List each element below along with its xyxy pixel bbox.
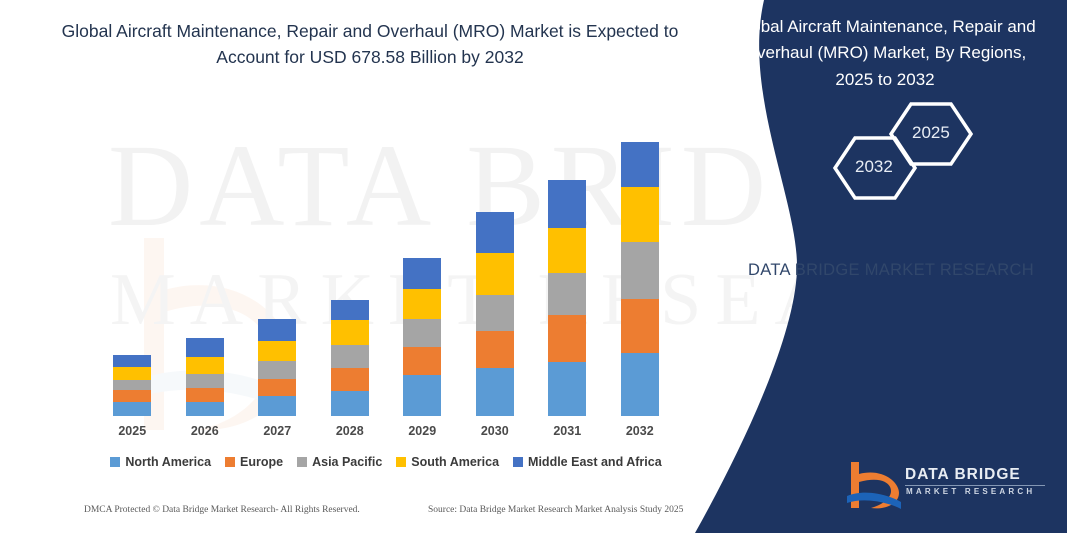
legend-swatch-icon: [225, 457, 235, 467]
bar-segment: [186, 374, 224, 389]
bar-segment: [258, 396, 296, 416]
x-axis-tick: 2027: [242, 424, 312, 438]
bar-segment: [113, 402, 151, 416]
bar-segment: [476, 212, 514, 253]
bar-segment: [548, 273, 586, 315]
bar-segment: [331, 320, 369, 345]
legend-label: Asia Pacific: [312, 455, 382, 469]
bar-column: [403, 258, 441, 416]
infographic-page: DATA BRID MARKET RESEARCH Global Aircraf…: [0, 0, 1067, 533]
bar-segment: [258, 361, 296, 379]
bar-column: [186, 338, 224, 416]
legend-item[interactable]: South America: [396, 455, 499, 469]
brand-name: DATA BRIDGE: [905, 466, 1021, 484]
page-title: Global Aircraft Maintenance, Repair and …: [60, 18, 680, 71]
hexagon-outlines-icon: [823, 96, 1023, 206]
legend-swatch-icon: [513, 457, 523, 467]
bar-segment: [403, 347, 441, 375]
bar-segment: [186, 338, 224, 357]
legend-item[interactable]: North America: [110, 455, 211, 469]
x-axis-tick: 2026: [170, 424, 240, 438]
brand-divider: [905, 485, 1045, 486]
bar-segment: [403, 289, 441, 320]
footer-copyright: DMCA Protected © Data Bridge Market Rese…: [84, 505, 360, 515]
bar-segment: [113, 390, 151, 402]
stacked-bar-chart: [96, 110, 676, 416]
legend-item[interactable]: Middle East and Africa: [513, 455, 662, 469]
legend-label: Europe: [240, 455, 283, 469]
bar-segment: [548, 180, 586, 228]
bar-segment: [331, 300, 369, 321]
bar-segment: [403, 319, 441, 347]
hexagon-group: 2025 2032: [823, 96, 1023, 206]
chart-legend: North AmericaEuropeAsia PacificSouth Ame…: [96, 455, 676, 469]
bar-column: [476, 212, 514, 416]
hexagon-2032-label: 2032: [855, 157, 893, 177]
bar-segment: [331, 345, 369, 368]
bar-segment: [113, 380, 151, 391]
bar-column: [331, 300, 369, 416]
bar-segment: [186, 402, 224, 416]
legend-label: North America: [125, 455, 211, 469]
legend-swatch-icon: [110, 457, 120, 467]
brand-logo: DATA BRIDGE MARKET RESEARCH: [843, 458, 1053, 514]
bar-segment: [186, 388, 224, 402]
footer: DMCA Protected © Data Bridge Market Rese…: [0, 505, 700, 527]
bar-segment: [403, 258, 441, 289]
bar-segment: [331, 368, 369, 392]
x-axis-tick: 2025: [97, 424, 167, 438]
bar-segment: [476, 331, 514, 368]
legend-swatch-icon: [297, 457, 307, 467]
footer-source: Source: Data Bridge Market Research Mark…: [428, 505, 683, 515]
legend-item[interactable]: Europe: [225, 455, 283, 469]
bar-segment: [113, 355, 151, 367]
x-axis-tick: 2030: [460, 424, 530, 438]
x-axis: 20252026202720282029203020312032: [96, 424, 676, 444]
bar-column: [258, 319, 296, 416]
bar-segment: [258, 319, 296, 341]
right-panel: Global Aircraft Maintenance, Repair and …: [647, 0, 1067, 533]
bar-segment: [476, 295, 514, 332]
panel-title: Global Aircraft Maintenance, Repair and …: [725, 14, 1045, 93]
bar-column: [548, 180, 586, 416]
panel-subtitle: DATA BRIDGE MARKET RESEARCH: [741, 258, 1041, 283]
bar-segment: [476, 253, 514, 294]
legend-label: South America: [411, 455, 499, 469]
x-axis-tick: 2031: [532, 424, 602, 438]
data-bridge-b-logo-icon: [845, 460, 903, 512]
bar-segment: [258, 341, 296, 361]
bar-segment: [113, 367, 151, 380]
bar-segment: [476, 368, 514, 416]
bar-segment: [548, 315, 586, 361]
hexagon-2025-label: 2025: [912, 123, 950, 143]
x-axis-tick: 2028: [315, 424, 385, 438]
bar-segment: [186, 357, 224, 374]
bar-column: [113, 355, 151, 416]
legend-item[interactable]: Asia Pacific: [297, 455, 382, 469]
bar-segment: [403, 375, 441, 416]
bar-segment: [331, 391, 369, 416]
legend-label: Middle East and Africa: [528, 455, 662, 469]
bar-segment: [548, 362, 586, 416]
legend-swatch-icon: [396, 457, 406, 467]
bar-segment: [258, 379, 296, 397]
bar-segment: [548, 228, 586, 272]
x-axis-tick: 2029: [387, 424, 457, 438]
brand-tagline: MARKET RESEARCH: [906, 487, 1035, 496]
